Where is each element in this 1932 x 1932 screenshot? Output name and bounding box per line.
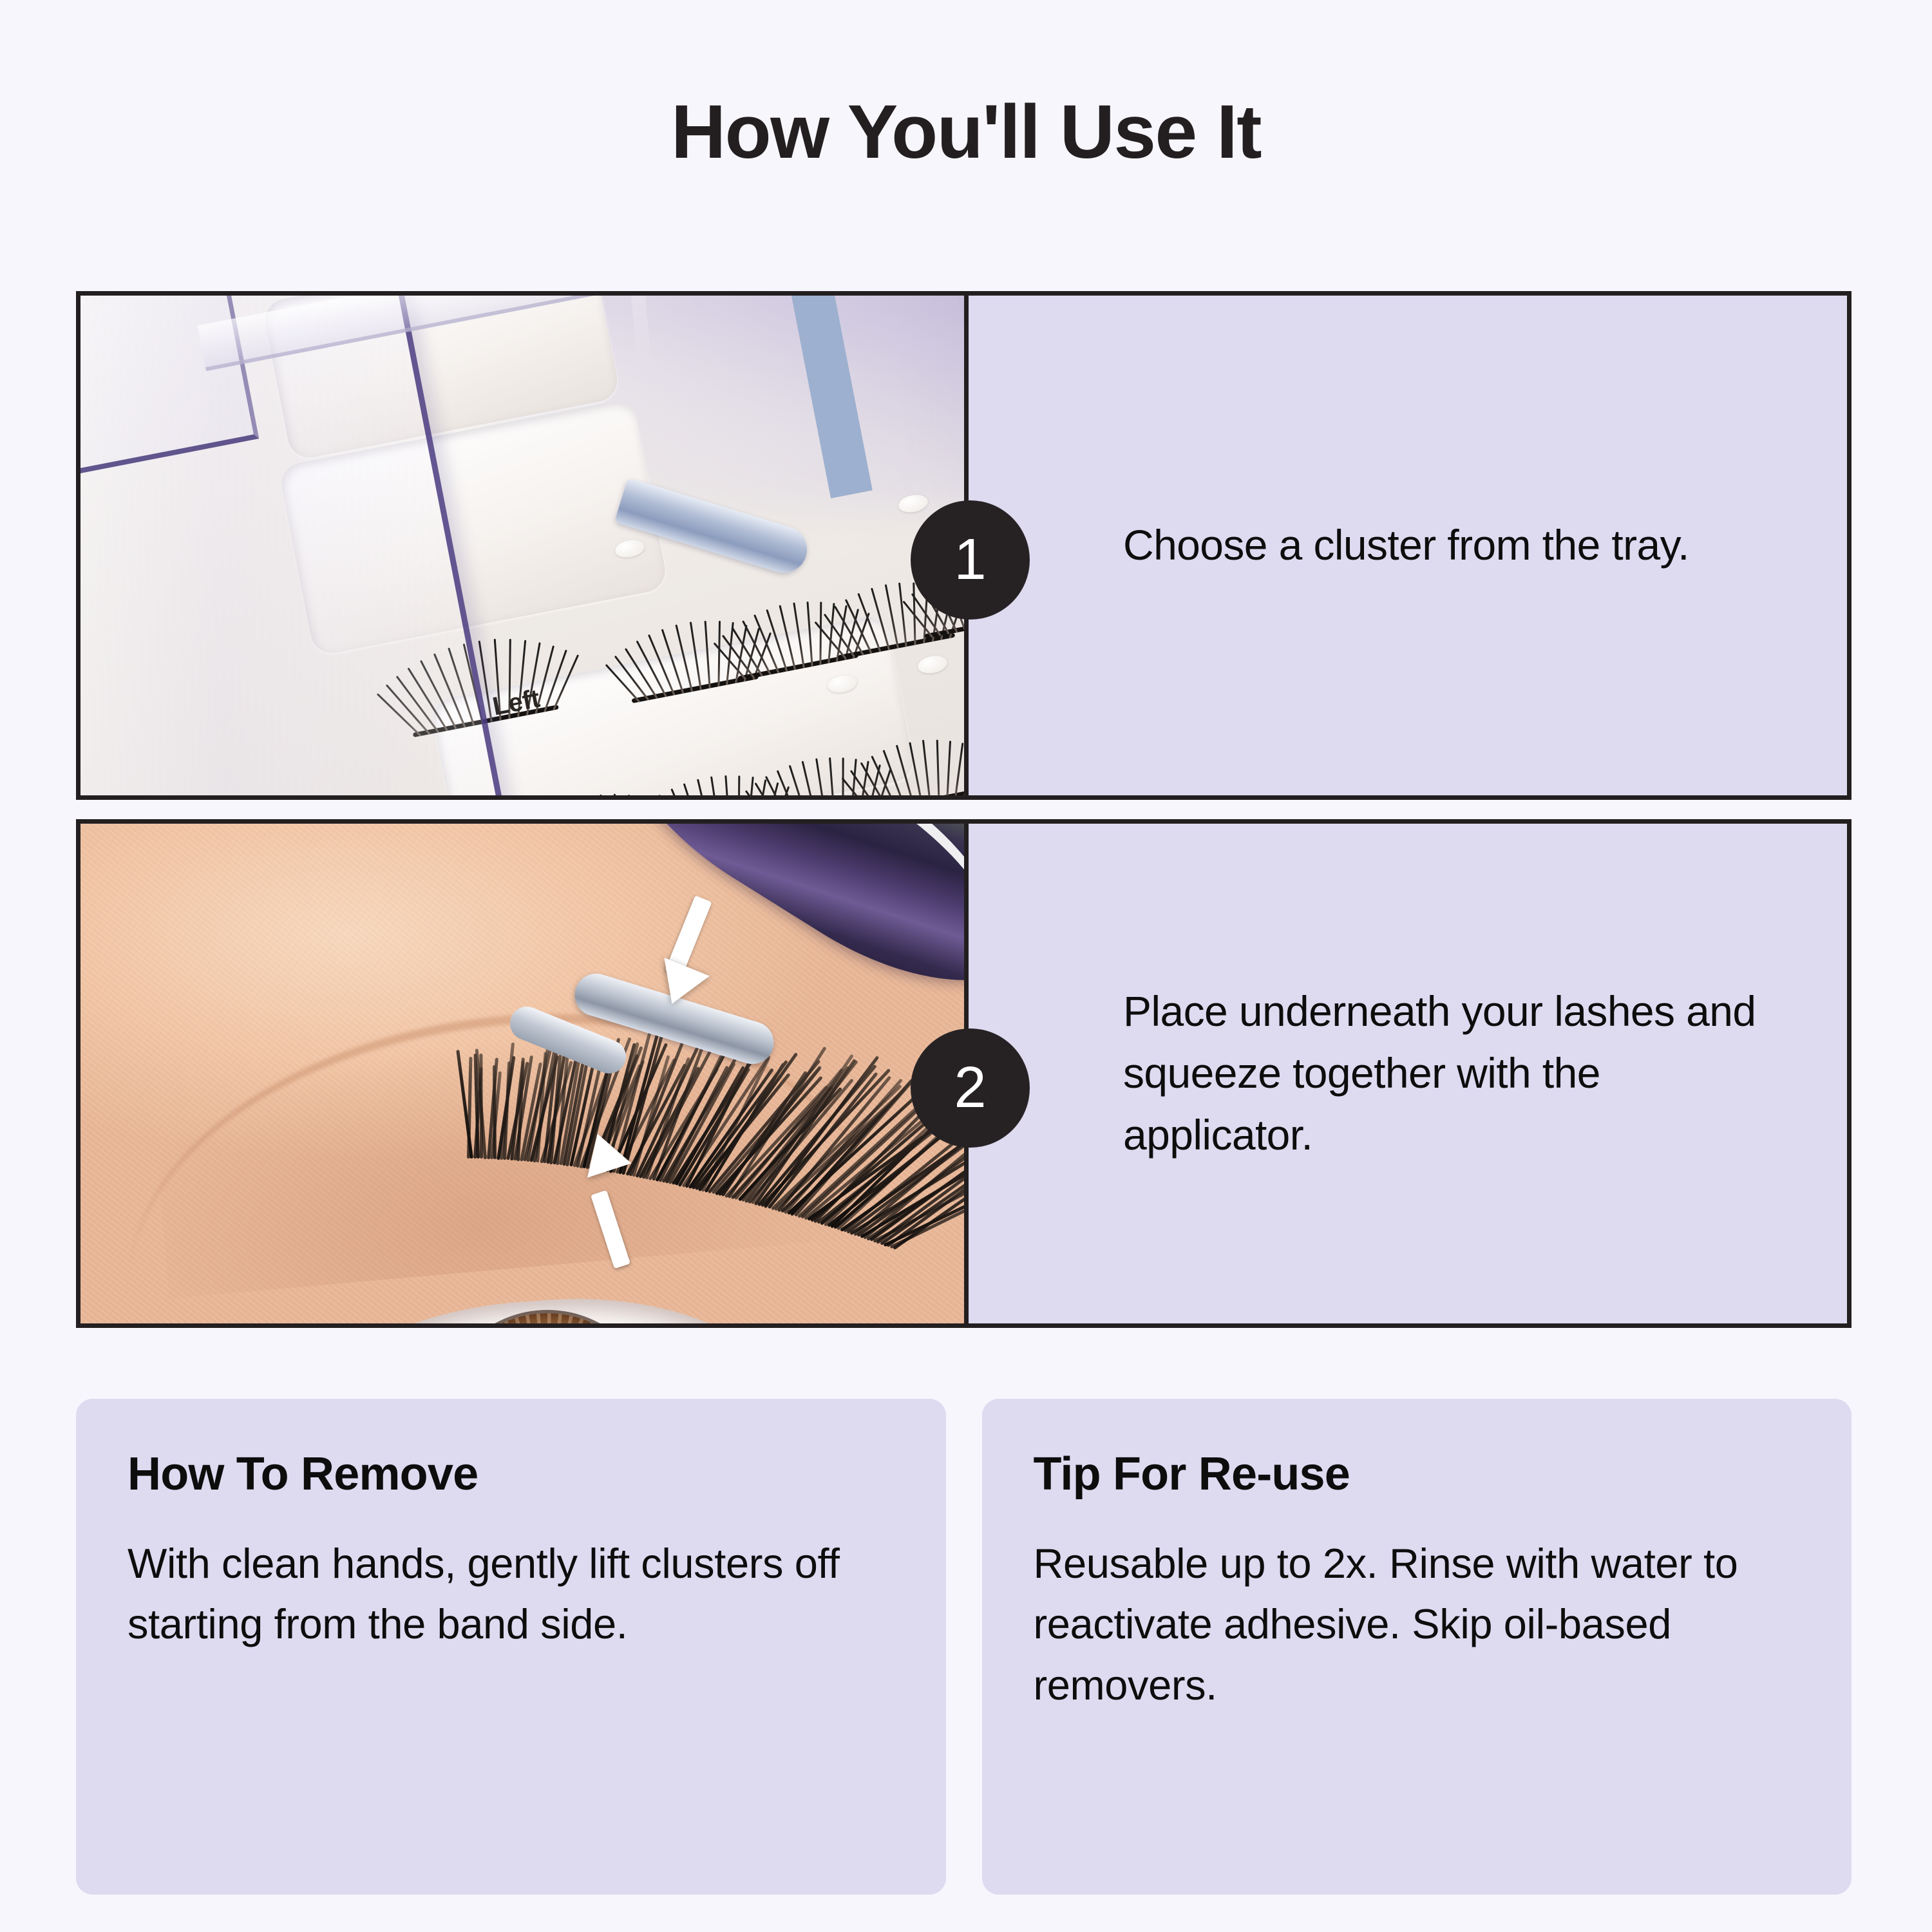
lash-tray-photo: Left	[80, 296, 969, 795]
page-title: How You'll Use It	[0, 94, 1932, 170]
info-cards: How To Remove With clean hands, gently l…	[76, 1399, 1851, 1895]
tray-scene: Left	[80, 296, 964, 795]
eye-scene	[80, 824, 964, 1323]
tool-curve	[556, 296, 873, 535]
infographic-page: How You'll Use It Left	[0, 0, 1932, 1932]
step-badge-2: 2	[911, 1028, 1030, 1148]
step-badge-1: 1	[911, 500, 1030, 620]
step-2-text: Place underneath your lashes and squeeze…	[1123, 981, 1789, 1166]
applicator-in-use	[475, 824, 964, 1139]
info-card-how-to-remove: How To Remove With clean hands, gently l…	[76, 1399, 946, 1895]
eye-application-photo	[80, 824, 969, 1323]
step-1-text-pane: Choose a cluster from the tray.	[969, 296, 1847, 795]
info-card-heading: How To Remove	[128, 1449, 895, 1500]
info-card-body: Reusable up to 2x. Rinse with water to r…	[1034, 1533, 1801, 1716]
step-1-text: Choose a cluster from the tray.	[1123, 515, 1689, 576]
step-row-1: Left Choose a cluster from the tray. 1	[76, 291, 1851, 800]
info-card-body: With clean hands, gently lift clusters o…	[128, 1533, 895, 1655]
info-card-tip-for-reuse: Tip For Re-use Reusable up to 2x. Rinse …	[982, 1399, 1852, 1895]
step-2-text-pane: Place underneath your lashes and squeeze…	[969, 824, 1847, 1323]
step-row-2: Place underneath your lashes and squeeze…	[76, 819, 1851, 1328]
info-card-heading: Tip For Re-use	[1034, 1449, 1801, 1500]
upper-lashes	[467, 1159, 918, 1323]
